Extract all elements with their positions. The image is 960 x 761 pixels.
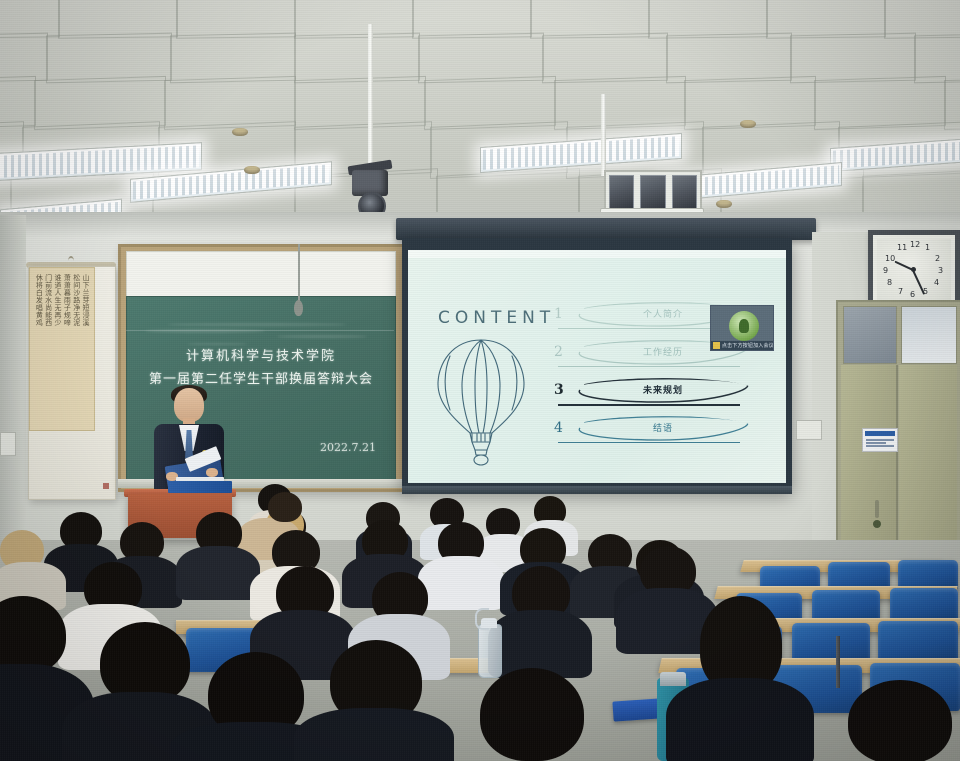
slide-top-bar — [408, 250, 786, 258]
door-sign-header — [865, 431, 895, 436]
smoke-detector-icon — [740, 120, 756, 128]
left-wall — [0, 215, 26, 555]
audience-body — [294, 708, 454, 761]
seat[interactable] — [878, 621, 958, 661]
toc-underline — [558, 404, 740, 406]
scroll-paper: 山下兰芽短浸溪 松间沙路净无泥 萧萧暮雨子规啼 谁道人生无再少 门前流水尚能西 … — [29, 267, 95, 431]
scroll-column: 休将白发唱黄鸡 — [35, 274, 42, 424]
wall-switch-plate[interactable] — [0, 432, 16, 456]
toc-label: 未来规划 — [570, 378, 756, 404]
clock-numeral: 11 — [897, 243, 907, 252]
clock-numeral: 7 — [898, 287, 903, 296]
toc-number: 1 — [554, 306, 563, 322]
hot-air-balloon-icon — [428, 334, 534, 466]
clock-numeral: 2 — [935, 254, 940, 263]
audience-head — [848, 680, 952, 761]
presenter-hand — [206, 468, 218, 477]
screen-housing — [396, 218, 816, 240]
chalkboard-line-1: 计算机科学与技术学院 — [134, 345, 388, 364]
wall-outlet-box — [796, 420, 822, 440]
seat[interactable] — [792, 623, 870, 663]
audience-body — [176, 546, 260, 600]
scroll-column: 山下兰芽短浸溪 — [82, 274, 89, 424]
camera-pole — [368, 24, 373, 174]
video-call-name: 点击下方按钮加入会议 — [722, 342, 773, 349]
chalkboard-rule — [126, 330, 394, 331]
slide-heading: CONTENT — [438, 308, 555, 328]
clock-numeral: 4 — [934, 278, 939, 287]
seat[interactable] — [890, 588, 958, 622]
chalkboard-upper-panel — [126, 251, 396, 297]
scroll-column: 松间沙路净无泥 — [72, 274, 79, 424]
audience-body — [666, 678, 814, 761]
screen-bottom-bar — [402, 486, 792, 494]
water-bottle — [478, 624, 502, 678]
scroll-hanger — [68, 256, 74, 266]
clock-numeral: 1 — [925, 243, 930, 252]
clock-numeral: 8 — [887, 278, 892, 287]
video-call-overlay[interactable]: 点击下方按钮加入会议 — [710, 305, 774, 351]
clock-numeral: 6 — [910, 290, 915, 299]
chalkboard-text: 计算机科学与技术学院 第一届第二任学生干部换届答辩大会 2022.7.21 — [134, 345, 388, 387]
hanging-weight — [294, 300, 303, 316]
toc-number: 2 — [554, 344, 563, 360]
toc-underline — [558, 442, 740, 443]
door-handle[interactable] — [875, 500, 879, 518]
toc-number: 4 — [554, 420, 563, 436]
chalkboard-date: 2022.7.21 — [320, 441, 376, 454]
clock-center — [911, 267, 916, 272]
video-call-nameplate: 点击下方按钮加入会议 — [711, 341, 773, 350]
presenter-head — [174, 388, 204, 422]
door-leaf-left[interactable] — [841, 365, 897, 560]
door-sign — [862, 428, 898, 452]
ceiling-tile — [542, 33, 668, 84]
thermos-cap — [660, 672, 686, 686]
toc-underline — [558, 366, 740, 367]
door-glass-panel — [843, 306, 897, 364]
toc-item-active[interactable]: 3 未来规划 — [554, 378, 766, 411]
ceiling-tile — [418, 33, 544, 84]
smoke-detector-icon — [716, 200, 732, 208]
hanging-wire — [298, 244, 300, 302]
door-seam — [896, 365, 898, 560]
projector-pole — [601, 94, 606, 176]
seat-leg — [836, 636, 840, 688]
door-leaf-right[interactable] — [899, 365, 957, 560]
bottle-handle — [475, 608, 489, 630]
chalkboard-line-2: 第一届第二任学生干部换届答辩大会 — [134, 368, 388, 387]
lecture-hall-photo: 山下兰芽短浸溪 松间沙路净无泥 萧萧暮雨子规啼 谁道人生无再少 门前流水尚能西 … — [0, 0, 960, 761]
toc-number: 3 — [554, 382, 564, 398]
door-lock-icon[interactable] — [873, 520, 881, 528]
clock-numeral: 12 — [910, 240, 920, 249]
podium-folder — [168, 481, 232, 493]
clock-face: 12 1 2 3 4 5 6 7 8 9 10 11 — [877, 239, 951, 303]
smoke-detector-icon — [232, 128, 248, 136]
toc-label: 结语 — [570, 416, 756, 442]
scroll-column: 萧萧暮雨子规啼 — [63, 274, 70, 424]
notebook — [612, 698, 661, 721]
audience-head — [268, 492, 302, 522]
clock-numeral: 3 — [938, 266, 943, 275]
calligraphy-scroll: 山下兰芽短浸溪 松间沙路净无泥 萧萧暮雨子规啼 谁道人生无再少 门前流水尚能西 … — [28, 266, 116, 500]
scroll-seal — [103, 483, 109, 489]
door-glass-panel — [901, 306, 957, 364]
avatar — [729, 311, 759, 341]
scroll-column: 谁道人生无再少 — [54, 274, 61, 424]
scroll-column: 门前流水尚能西 — [44, 274, 51, 424]
smoke-detector-icon — [244, 166, 260, 174]
audience-head — [480, 668, 584, 761]
toc-item[interactable]: 4 结语 — [554, 416, 766, 449]
presentation-slide: CONTENT 1 — [408, 250, 786, 483]
clock-numeral: 9 — [883, 266, 888, 275]
audience-body — [418, 556, 504, 610]
mic-icon — [713, 342, 720, 349]
